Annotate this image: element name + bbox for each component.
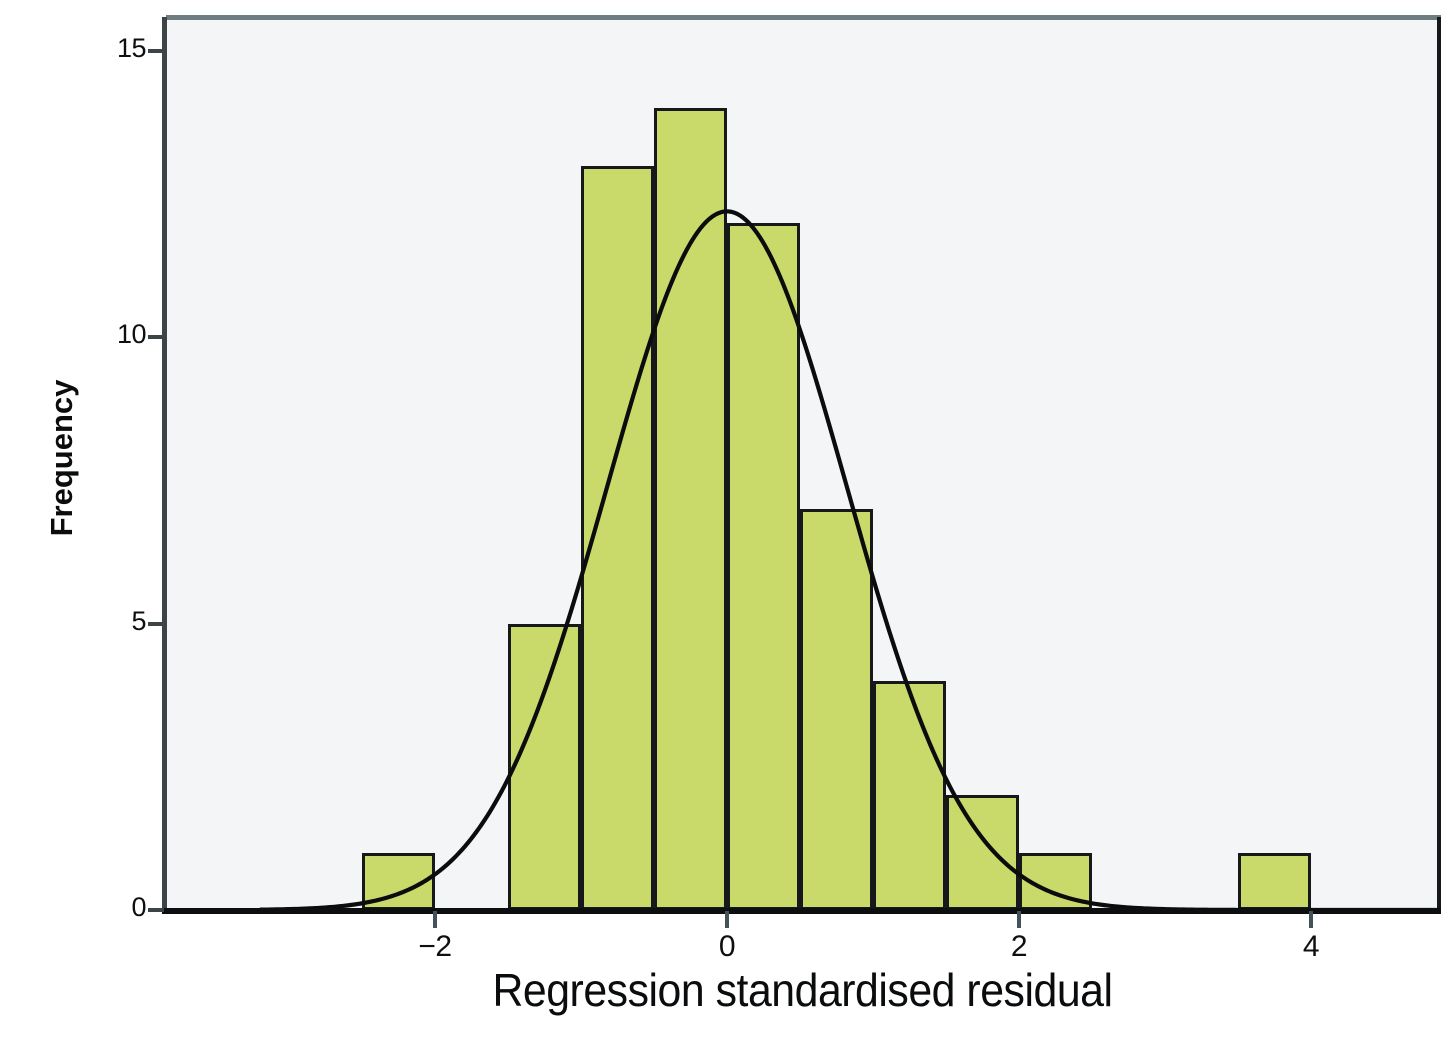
histogram-bar	[581, 166, 654, 910]
x-axis-tick	[433, 911, 437, 928]
y-axis-title: Frequency	[44, 348, 80, 568]
y-axis-tick-label: 0	[26, 892, 146, 923]
histogram-bar	[946, 795, 1019, 910]
x-axis-tick	[1017, 911, 1021, 928]
x-axis-tick-label: −2	[375, 930, 495, 964]
y-axis-tick-label: 15	[26, 33, 146, 64]
x-axis-tick-label: 4	[1251, 930, 1371, 964]
histogram-chart: 051015 −2024 Frequency Regression standa…	[0, 0, 1456, 1049]
histogram-bar	[727, 223, 800, 910]
y-axis-tick	[148, 335, 164, 339]
plot-top-border	[166, 15, 1441, 20]
y-axis-tick	[148, 908, 164, 912]
y-axis-tick-label: 10	[26, 319, 146, 350]
plot-right-border	[1437, 17, 1441, 912]
y-axis-tick	[148, 622, 164, 626]
x-axis-tick	[725, 911, 729, 928]
histogram-bar	[873, 681, 946, 910]
histogram-bar	[800, 509, 873, 910]
histogram-bar	[1238, 853, 1311, 910]
histogram-bar	[508, 624, 581, 910]
x-axis-tick-label: 0	[667, 930, 787, 964]
histogram-bar	[654, 108, 727, 910]
x-axis-tick	[1309, 911, 1313, 928]
x-axis-line	[162, 908, 1441, 914]
y-axis-tick-label: 5	[26, 606, 146, 637]
x-axis-tick-label: 2	[959, 930, 1079, 964]
histogram-bar	[1019, 853, 1092, 910]
x-axis-title: Regression standardised residual	[211, 963, 1395, 1017]
y-axis-tick	[148, 49, 164, 53]
y-axis-line	[162, 17, 167, 912]
histogram-bar	[362, 853, 435, 910]
